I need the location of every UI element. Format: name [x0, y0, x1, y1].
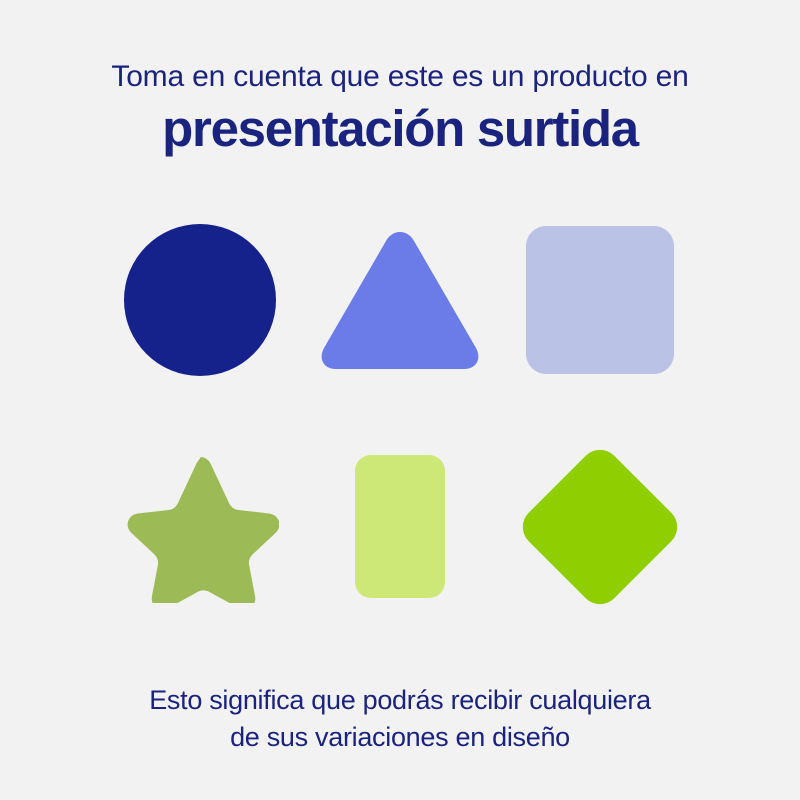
circle-shape-icon: [124, 224, 276, 376]
rounded-square-shape-icon: [526, 226, 674, 374]
shape-cell-diamond: [500, 439, 700, 614]
shape-cell-rounded-square: [500, 212, 700, 387]
shapes-grid: [0, 212, 800, 614]
diamond-wrapper: [513, 439, 688, 614]
footer-block: Esto significa que podrás recibir cualqu…: [0, 682, 800, 757]
shape-cell-triangle: [300, 212, 500, 387]
star-shape-icon: [121, 451, 279, 603]
shapes-row-2: [0, 439, 800, 614]
heading-block: Toma en cuenta que este es un producto e…: [0, 0, 800, 158]
diamond-shape-icon: [514, 441, 685, 612]
footer-line-2: de sus variaciones en diseño: [0, 719, 800, 756]
rounded-rectangle-shape-icon: [355, 455, 445, 598]
footer-line-1: Esto significa que podrás recibir cualqu…: [0, 682, 800, 719]
triangle-shape-icon: [316, 226, 484, 374]
shape-cell-circle: [100, 212, 300, 387]
shapes-row-1: [0, 212, 800, 387]
shape-cell-star: [100, 439, 300, 614]
shape-cell-rounded-rectangle: [300, 439, 500, 614]
heading-line-2: presentación surtida: [0, 100, 800, 159]
heading-line-1: Toma en cuenta que este es un producto e…: [0, 58, 800, 96]
product-variation-notice-poster: Toma en cuenta que este es un producto e…: [0, 0, 800, 800]
